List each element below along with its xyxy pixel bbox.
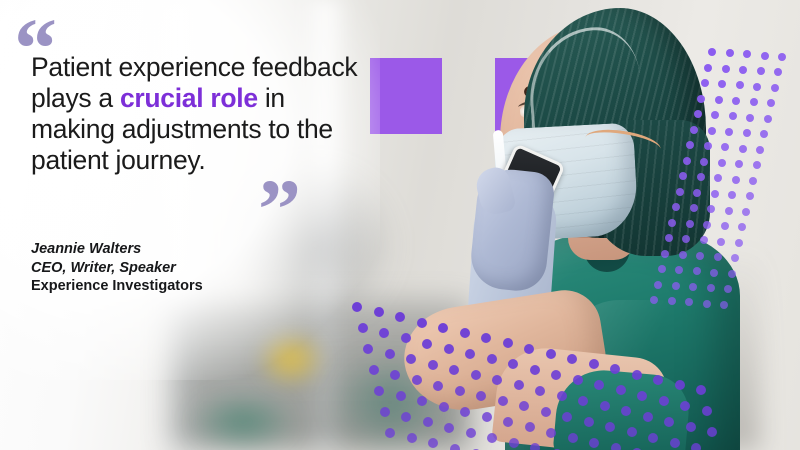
decorative-dot: [664, 417, 674, 427]
decorative-dot: [385, 349, 395, 359]
decorative-dot: [589, 359, 599, 369]
decorative-dot: [444, 423, 454, 433]
decorative-dot: [686, 141, 694, 149]
decorative-dot: [689, 283, 697, 291]
decorative-dot: [417, 318, 427, 328]
decorative-dot: [525, 422, 535, 432]
decorative-dot: [774, 68, 782, 76]
quote-highlight: crucial role: [120, 83, 258, 113]
decorative-dot: [728, 191, 736, 199]
decorative-dot: [771, 84, 779, 92]
decorative-dot: [761, 52, 769, 60]
decorative-dot: [675, 380, 685, 390]
decorative-dot: [503, 338, 513, 348]
decorative-dot: [693, 189, 701, 197]
decorative-dot: [693, 267, 701, 275]
decorative-dot: [753, 83, 761, 91]
decorative-dot: [627, 427, 637, 437]
decorative-dot: [757, 67, 765, 75]
quote-card: “ Patient experience feedback plays a cr…: [0, 0, 800, 450]
decorative-dot: [412, 375, 422, 385]
decorative-dot: [686, 220, 694, 228]
decorative-dot: [711, 111, 719, 119]
decorative-dot: [732, 97, 740, 105]
decorative-dot: [702, 406, 712, 416]
decorative-dot: [676, 188, 684, 196]
decorative-dot: [465, 349, 475, 359]
decorative-dot: [722, 65, 730, 73]
decorative-dot: [492, 375, 502, 385]
decorative-dot: [508, 359, 518, 369]
decorative-dot: [696, 385, 706, 395]
decorative-dot: [535, 386, 545, 396]
decorative-dot: [718, 80, 726, 88]
decorative-dot: [395, 312, 405, 322]
decorative-dot: [653, 375, 663, 385]
decorative-dot: [710, 269, 718, 277]
decorative-dot: [679, 251, 687, 259]
decorative-dot: [433, 381, 443, 391]
decorative-dot: [487, 433, 497, 443]
decorative-dot: [725, 207, 733, 215]
attribution-role: CEO, Writer, Speaker: [31, 259, 203, 278]
closing-quote-icon: ”: [258, 166, 301, 252]
decorative-dot: [390, 370, 400, 380]
decorative-dot: [746, 114, 754, 122]
decorative-dot: [551, 370, 561, 380]
decorative-dot: [621, 406, 631, 416]
decorative-dot: [690, 126, 698, 134]
quote-line-1: Patient experience: [31, 52, 245, 82]
dot-pattern-lower: [352, 296, 732, 450]
decorative-dot: [703, 221, 711, 229]
decorative-dot: [711, 190, 719, 198]
decorative-dot: [739, 145, 747, 153]
dot-pattern-right: [690, 48, 800, 318]
decorative-dot: [714, 174, 722, 182]
decorative-dot: [749, 177, 757, 185]
decorative-dot: [514, 380, 524, 390]
decorative-dot: [721, 143, 729, 151]
decorative-dot: [632, 370, 642, 380]
decorative-dot: [648, 433, 658, 443]
decorative-dot: [690, 204, 698, 212]
decorative-dot: [686, 422, 696, 432]
decorative-dot: [584, 417, 594, 427]
decorative-dot: [735, 160, 743, 168]
decorative-dot: [683, 157, 691, 165]
decorative-dot: [718, 159, 726, 167]
quote-line-5: patient journey.: [31, 145, 205, 175]
decorative-dot: [380, 407, 390, 417]
decorative-dot: [704, 142, 712, 150]
decorative-dot: [742, 208, 750, 216]
decorative-dot: [498, 396, 508, 406]
decorative-dot: [707, 284, 715, 292]
decorative-dot: [643, 412, 653, 422]
decorative-dot: [481, 333, 491, 343]
decorative-dot: [541, 407, 551, 417]
decorative-dot: [668, 219, 676, 227]
decorative-dot: [417, 396, 427, 406]
decorative-dot: [466, 428, 476, 438]
decorative-dot: [438, 323, 448, 333]
decorative-dot: [700, 236, 708, 244]
decorative-dot: [704, 64, 712, 72]
decorative-dot: [594, 380, 604, 390]
decorative-dot: [680, 401, 690, 411]
decorative-dot: [562, 412, 572, 422]
decorative-dot: [637, 391, 647, 401]
decorative-dot: [682, 235, 690, 243]
decorative-dot: [374, 386, 384, 396]
decorative-dot: [732, 176, 740, 184]
decorative-dot: [707, 427, 717, 437]
decorative-dot: [658, 265, 666, 273]
decorative-dot: [764, 115, 772, 123]
decorative-dot: [428, 360, 438, 370]
decorative-dot: [401, 333, 411, 343]
decorative-dot: [616, 385, 626, 395]
decorative-dot: [721, 222, 729, 230]
decorative-dot: [530, 443, 540, 450]
decorative-dot: [750, 98, 758, 106]
decorative-dot: [379, 328, 389, 338]
decorative-dot: [546, 349, 556, 359]
decorative-dot: [665, 234, 673, 242]
decorative-dot: [610, 364, 620, 374]
decorative-dot: [396, 391, 406, 401]
decorative-dot: [487, 354, 497, 364]
decorative-dot: [717, 238, 725, 246]
decorative-dot: [753, 161, 761, 169]
decorative-dot: [449, 365, 459, 375]
decorative-dot: [589, 438, 599, 448]
quote-line-4: adjustments to the: [122, 114, 333, 144]
decorative-dot: [423, 417, 433, 427]
decorative-dot: [729, 112, 737, 120]
decorative-dot: [519, 401, 529, 411]
decorative-dot: [746, 192, 754, 200]
decorative-dot: [760, 130, 768, 138]
decorative-dot: [401, 412, 411, 422]
decorative-dot: [738, 223, 746, 231]
decorative-dot: [707, 205, 715, 213]
decorative-dot: [428, 438, 438, 448]
decorative-dot: [611, 443, 621, 450]
decorative-dot: [482, 412, 492, 422]
decorative-dot: [697, 173, 705, 181]
decorative-dot: [578, 396, 588, 406]
decorative-dot: [708, 48, 716, 56]
decorative-dot: [726, 49, 734, 57]
decorative-dot: [530, 365, 540, 375]
decorative-dot: [670, 438, 680, 448]
attribution: Jeannie Walters CEO, Writer, Speaker Exp…: [31, 240, 203, 296]
decorative-dot: [736, 81, 744, 89]
decorative-dot: [568, 433, 578, 443]
decorative-dot: [731, 254, 739, 262]
attribution-name: Jeannie Walters: [31, 240, 203, 259]
decorative-dot: [715, 96, 723, 104]
decorative-dot: [708, 127, 716, 135]
decorative-dot: [700, 158, 708, 166]
decorative-dot: [476, 391, 486, 401]
decorative-dot: [439, 402, 449, 412]
decorative-dot: [605, 422, 615, 432]
decorative-dot: [406, 354, 416, 364]
decorative-dot: [509, 438, 519, 448]
decorative-dot: [725, 128, 733, 136]
decorative-dot: [659, 396, 669, 406]
decorative-dot: [471, 370, 481, 380]
decorative-dot: [503, 417, 513, 427]
decorative-dot: [728, 270, 736, 278]
decorative-dot: [724, 285, 732, 293]
decorative-dot: [743, 129, 751, 137]
decorative-dot: [567, 354, 577, 364]
decorative-dot: [697, 95, 705, 103]
decorative-dot: [524, 344, 534, 354]
decorative-dot: [767, 99, 775, 107]
decorative-dot: [385, 428, 395, 438]
decorative-dot: [701, 79, 709, 87]
quote-text: Patient experience feedback plays a cruc…: [31, 52, 361, 176]
decorative-dot: [460, 328, 470, 338]
decorative-dot: [714, 253, 722, 261]
decorative-dot: [407, 433, 417, 443]
decorative-dot: [735, 239, 743, 247]
decorative-dot: [654, 281, 662, 289]
decorative-dot: [546, 428, 556, 438]
decorative-dot: [672, 203, 680, 211]
decorative-dot: [450, 444, 460, 450]
decorative-dot: [696, 252, 704, 260]
decorative-dot: [460, 407, 470, 417]
decorative-dot: [778, 53, 786, 61]
decorative-dot: [743, 50, 751, 58]
decorative-dot: [444, 344, 454, 354]
decorative-dot: [573, 375, 583, 385]
decorative-dot: [672, 282, 680, 290]
decorative-dot: [557, 391, 567, 401]
decorative-dot: [422, 339, 432, 349]
decorative-dot: [739, 66, 747, 74]
decorative-dot: [600, 401, 610, 411]
decorative-dot: [694, 110, 702, 118]
decorative-dot: [691, 443, 701, 450]
decorative-dot: [455, 386, 465, 396]
decorative-dot: [661, 250, 669, 258]
attribution-company: Experience Investigators: [31, 277, 203, 296]
decorative-dot: [756, 146, 764, 154]
